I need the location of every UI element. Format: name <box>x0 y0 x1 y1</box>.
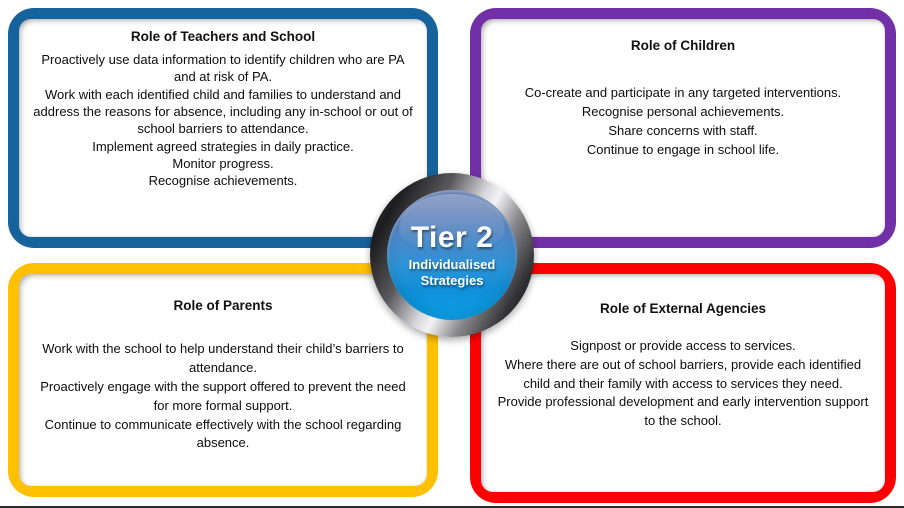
card-body-parents: Work with the school to help understand … <box>33 340 413 453</box>
card-panel: Role of External Agencies Signpost or pr… <box>481 274 885 492</box>
card-title-teachers: Role of Teachers and School <box>33 29 413 45</box>
card-title-agencies: Role of External Agencies <box>495 301 871 317</box>
card-body-children: Co-create and participate in any targete… <box>495 84 871 160</box>
card-panel: Role of Parents Work with the school to … <box>19 274 427 486</box>
tier-badge-subtitle: Individualised Strategies <box>409 257 496 290</box>
tier-2-roles-diagram: Role of Teachers and School Proactively … <box>0 0 904 508</box>
tier-badge-ring: Tier 2 Individualised Strategies <box>370 173 534 337</box>
card-role-of-teachers-and-school: Role of Teachers and School Proactively … <box>8 8 438 248</box>
card-role-of-external-agencies: Role of External Agencies Signpost or pr… <box>470 263 896 503</box>
card-panel: Role of Teachers and School Proactively … <box>19 19 427 237</box>
tier-badge-sphere: Tier 2 Individualised Strategies <box>387 190 517 320</box>
card-panel: Role of Children Co-create and participa… <box>481 19 885 237</box>
card-title-children: Role of Children <box>495 38 871 54</box>
card-body-agencies: Signpost or provide access to services. … <box>495 337 871 431</box>
card-title-parents: Role of Parents <box>33 298 413 314</box>
card-body-teachers: Proactively use data information to iden… <box>33 51 413 189</box>
card-role-of-parents: Role of Parents Work with the school to … <box>8 263 438 497</box>
card-role-of-children: Role of Children Co-create and participa… <box>470 8 896 248</box>
tier-badge-title: Tier 2 <box>411 221 494 254</box>
